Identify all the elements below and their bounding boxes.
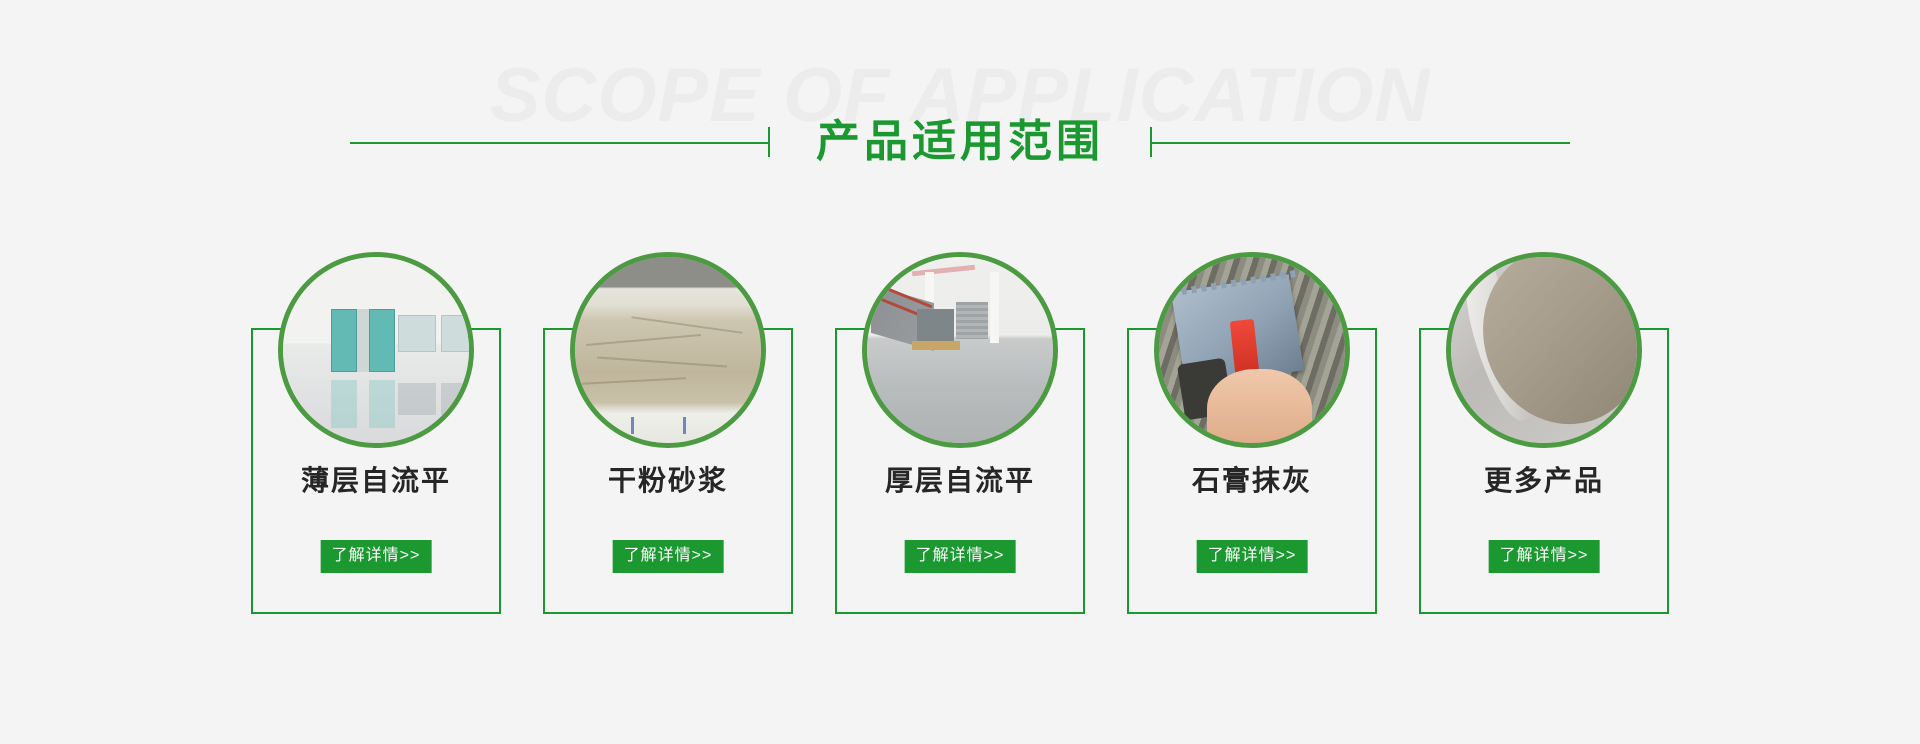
card-title: 更多产品 (1419, 467, 1669, 495)
title-rule-right (1150, 127, 1570, 157)
scope-of-application-section: SCOPE OF APPLICATION 产品适用范围 薄层自流平 了解详情>> (0, 0, 1920, 744)
thin-layer-self-leveling-floor-photo[interactable] (278, 252, 474, 448)
thick-layer-self-leveling-warehouse-photo[interactable] (862, 252, 1058, 448)
product-card[interactable]: 干粉砂浆 了解详情>> (543, 252, 793, 652)
product-card-list: 薄层自流平 了解详情>> 干粉砂浆 了解详情>> (0, 252, 1920, 652)
photo-art (1451, 257, 1637, 443)
more-products-photo[interactable] (1446, 252, 1642, 448)
section-header: SCOPE OF APPLICATION 产品适用范围 (0, 58, 1920, 198)
photo-art (867, 257, 1053, 443)
card-title: 厚层自流平 (835, 467, 1085, 495)
learn-more-button[interactable]: 了解详情>> (1197, 540, 1308, 573)
product-card[interactable]: 更多产品 了解详情>> (1419, 252, 1669, 652)
learn-more-button[interactable]: 了解详情>> (321, 540, 432, 573)
product-card[interactable]: 石膏抹灰 了解详情>> (1127, 252, 1377, 652)
gypsum-plaster-trowel-photo[interactable] (1154, 252, 1350, 448)
photo-art (575, 257, 761, 443)
photo-art (283, 257, 469, 443)
product-card[interactable]: 厚层自流平 了解详情>> (835, 252, 1085, 652)
title-rule-left (350, 127, 770, 157)
dry-powder-mortar-photo[interactable] (570, 252, 766, 448)
title-row: 产品适用范围 (0, 102, 1920, 182)
learn-more-button[interactable]: 了解详情>> (905, 540, 1016, 573)
card-title: 石膏抹灰 (1127, 467, 1377, 495)
card-title: 薄层自流平 (251, 467, 501, 495)
learn-more-button[interactable]: 了解详情>> (1489, 540, 1600, 573)
page-title: 产品适用范围 (770, 120, 1150, 164)
photo-art (1159, 257, 1345, 443)
product-card[interactable]: 薄层自流平 了解详情>> (251, 252, 501, 652)
card-title: 干粉砂浆 (543, 467, 793, 495)
learn-more-button[interactable]: 了解详情>> (613, 540, 724, 573)
